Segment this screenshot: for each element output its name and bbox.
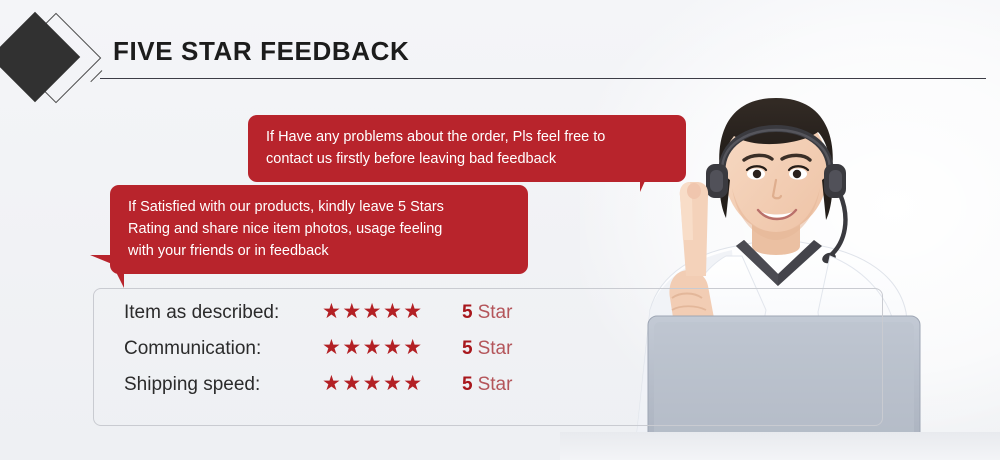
rating-unit: Star bbox=[478, 338, 513, 360]
rating-row-shipping-speed: Shipping speed: ★★★★★ 5 Star bbox=[124, 373, 584, 409]
rating-stars-icon: ★★★★★ bbox=[322, 337, 462, 358]
rating-label: Item as described: bbox=[124, 302, 322, 324]
bubble-bottom-line-2: Rating and share nice item photos, usage… bbox=[128, 218, 512, 240]
bubble-top-line-1: If Have any problems about the order, Pl… bbox=[266, 126, 670, 148]
rating-stars-icon: ★★★★★ bbox=[322, 301, 462, 322]
bubble-bottom-line-1: If Satisfied with our products, kindly l… bbox=[128, 196, 512, 218]
bubble-bottom-line-3: with your friends or in feedback bbox=[128, 240, 512, 262]
bubble-top-line-2: contact us firstly before leaving bad fe… bbox=[266, 148, 670, 170]
header-rule-tick bbox=[90, 70, 102, 82]
rating-row-item-as-described: Item as described: ★★★★★ 5 Star bbox=[124, 301, 584, 337]
rating-score: 5 bbox=[462, 302, 473, 324]
ratings-list: Item as described: ★★★★★ 5 Star Communic… bbox=[124, 301, 584, 409]
rating-score: 5 bbox=[462, 338, 473, 360]
rating-unit: Star bbox=[478, 302, 513, 324]
speech-bubble-problems: If Have any problems about the order, Pl… bbox=[248, 115, 686, 182]
page-title: FIVE STAR FEEDBACK bbox=[113, 36, 409, 67]
feedback-banner: FIVE STAR FEEDBACK bbox=[0, 0, 1000, 460]
speech-bubble-satisfied: If Satisfied with our products, kindly l… bbox=[110, 185, 528, 274]
rating-label: Shipping speed: bbox=[124, 374, 322, 396]
desk-surface bbox=[560, 432, 1000, 460]
rating-label: Communication: bbox=[124, 338, 322, 360]
rating-row-communication: Communication: ★★★★★ 5 Star bbox=[124, 337, 584, 373]
rating-unit: Star bbox=[478, 374, 513, 396]
rating-score: 5 bbox=[462, 374, 473, 396]
rating-stars-icon: ★★★★★ bbox=[322, 373, 462, 394]
